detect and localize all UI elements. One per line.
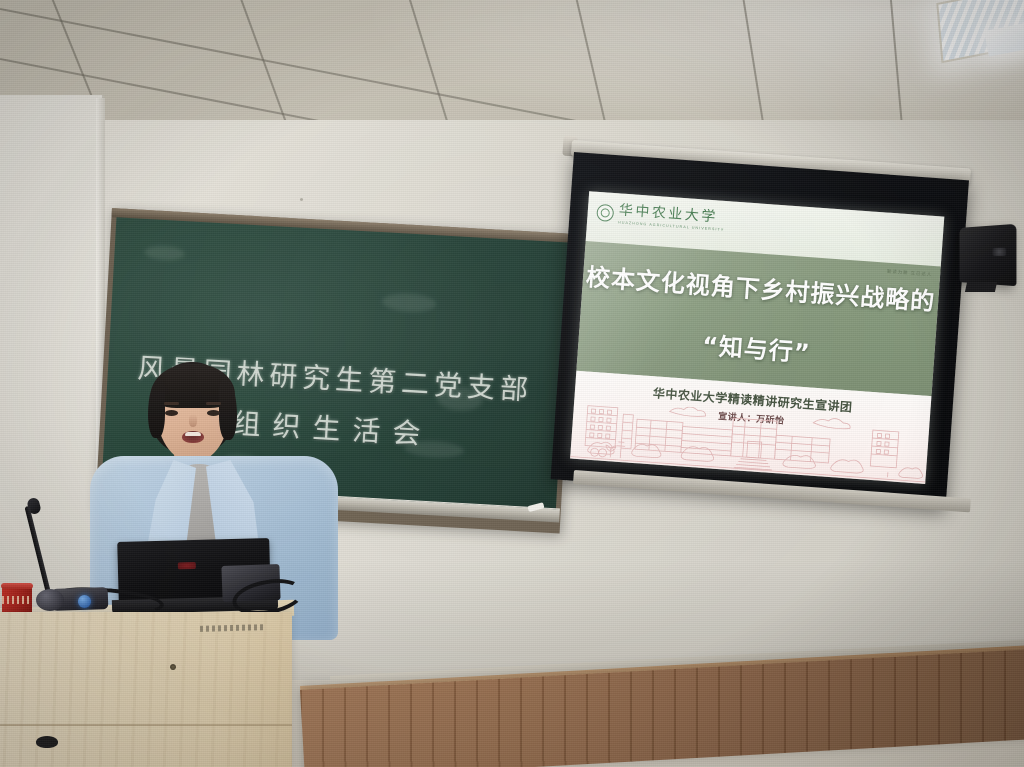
laptop-logo [178, 562, 196, 569]
projection-screen: 华中农业大学 HUAZHONG AGRICULTURAL UNIVERSITY … [551, 152, 969, 507]
eyebrow-left [164, 402, 179, 405]
seal-icon [596, 204, 614, 222]
podium-panel-seam [0, 724, 292, 726]
slide-canvas: 华中农业大学 HUAZHONG AGRICULTURAL UNIVERSITY … [570, 191, 944, 484]
cup-label-band [2, 596, 32, 604]
wall-speaker [960, 224, 1017, 286]
eye-left [165, 410, 178, 416]
microphone-dome [36, 589, 64, 611]
speaker-bracket [965, 282, 997, 292]
chalk-smudge [382, 292, 437, 313]
podium-handle[interactable] [36, 736, 58, 748]
cup-rim [1, 583, 33, 589]
eyebrow-right [206, 402, 221, 405]
chalk-smudge [144, 245, 185, 261]
wall-mark [300, 198, 303, 201]
classroom-scene: 风景园林研究生第二党支部 组织生活会 华中农业大学 HUAZHONG AGRIC… [0, 0, 1024, 767]
eye-right [207, 410, 220, 416]
podium-screw [170, 664, 176, 670]
microphone-indicator-light [78, 595, 91, 608]
teeth [185, 432, 201, 436]
nose [189, 414, 197, 427]
hair-left-side [148, 380, 165, 438]
university-logo: 华中农业大学 HUAZHONG AGRICULTURAL UNIVERSITY [596, 202, 726, 232]
